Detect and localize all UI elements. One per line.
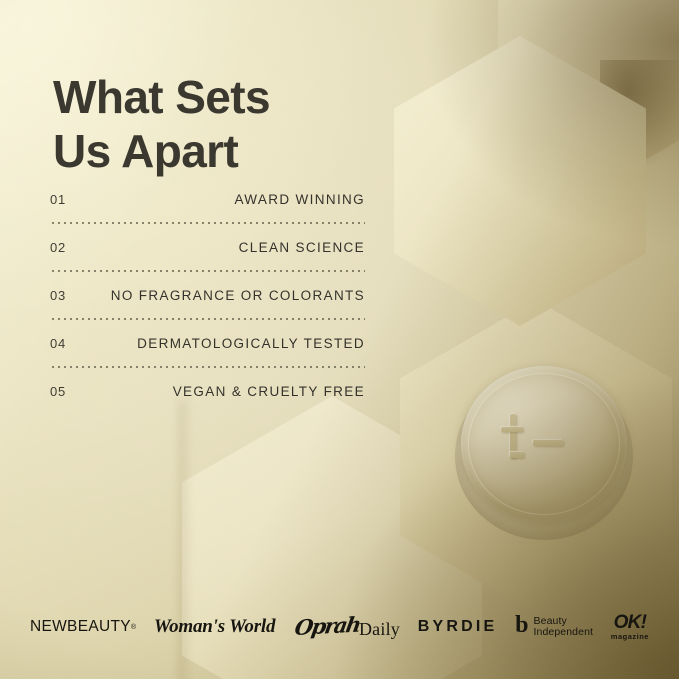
press-logo-oprah-script: Oprah [293,611,362,639]
press-logo-beauty-independent-words: Beauty Independent [534,616,594,639]
feature-number: 05 [50,384,66,399]
feature-row-03: 03 NO FRAGRANCE OR COLORANTS [50,278,365,312]
trademark-icon: ® [131,624,136,631]
press-logo-byrdie: BYRDIE [418,618,498,636]
press-logo-oprah-daily-text: Daily [359,619,400,640]
press-logo-ok-magazine: OK! magazine [611,613,649,641]
feature-number: 04 [50,336,66,351]
feature-row-02: 02 CLEAN SCIENCE [50,230,365,264]
promo-graphic: What Sets Us Apart 01 AWARD WINNING 02 C… [0,0,679,679]
feature-label: AWARD WINNING [234,192,365,207]
feature-number: 01 [50,192,66,207]
feature-label: DERMATOLOGICALLY TESTED [137,336,365,351]
feature-divider [50,360,365,374]
press-logo-ok-text: OK! [614,613,646,632]
beauty-independent-mark-icon: b [515,616,528,635]
press-logo-newbeauty: NEWBEAUTY® [30,618,136,636]
feature-divider [50,312,365,326]
feature-number: 03 [50,288,66,303]
content-layer: What Sets Us Apart 01 AWARD WINNING 02 C… [0,0,679,679]
press-logo-newbeauty-text: NEWBEAUTY [30,618,131,636]
feature-divider [50,216,365,230]
press-logo-oprah-daily: Oprah Daily [293,615,400,640]
feature-label: VEGAN & CRUELTY FREE [173,384,365,399]
press-logo-beauty-independent-line2: Independent [534,627,594,638]
press-logo-beauty-independent: b Beauty Independent [515,616,593,639]
feature-number: 02 [50,240,66,255]
press-logo-ok-subtext: magazine [611,633,649,641]
feature-row-01: 01 AWARD WINNING [50,182,365,216]
feature-label: CLEAN SCIENCE [239,240,365,255]
feature-row-05: 05 VEGAN & CRUELTY FREE [50,374,365,408]
feature-label: NO FRAGRANCE OR COLORANTS [111,288,365,303]
press-logo-byrdie-text: BYRDIE [418,618,498,636]
page-title: What Sets Us Apart [53,71,270,179]
feature-row-04: 04 DERMATOLOGICALLY TESTED [50,326,365,360]
press-logo-womans-world: Woman's World [154,616,275,638]
press-logo-womans-world-text: Woman's World [154,616,275,638]
feature-divider [50,264,365,278]
press-logo-strip: NEWBEAUTY® Woman's World Oprah Daily BYR… [0,609,679,645]
feature-list: 01 AWARD WINNING 02 CLEAN SCIENCE 03 NO … [50,182,365,408]
